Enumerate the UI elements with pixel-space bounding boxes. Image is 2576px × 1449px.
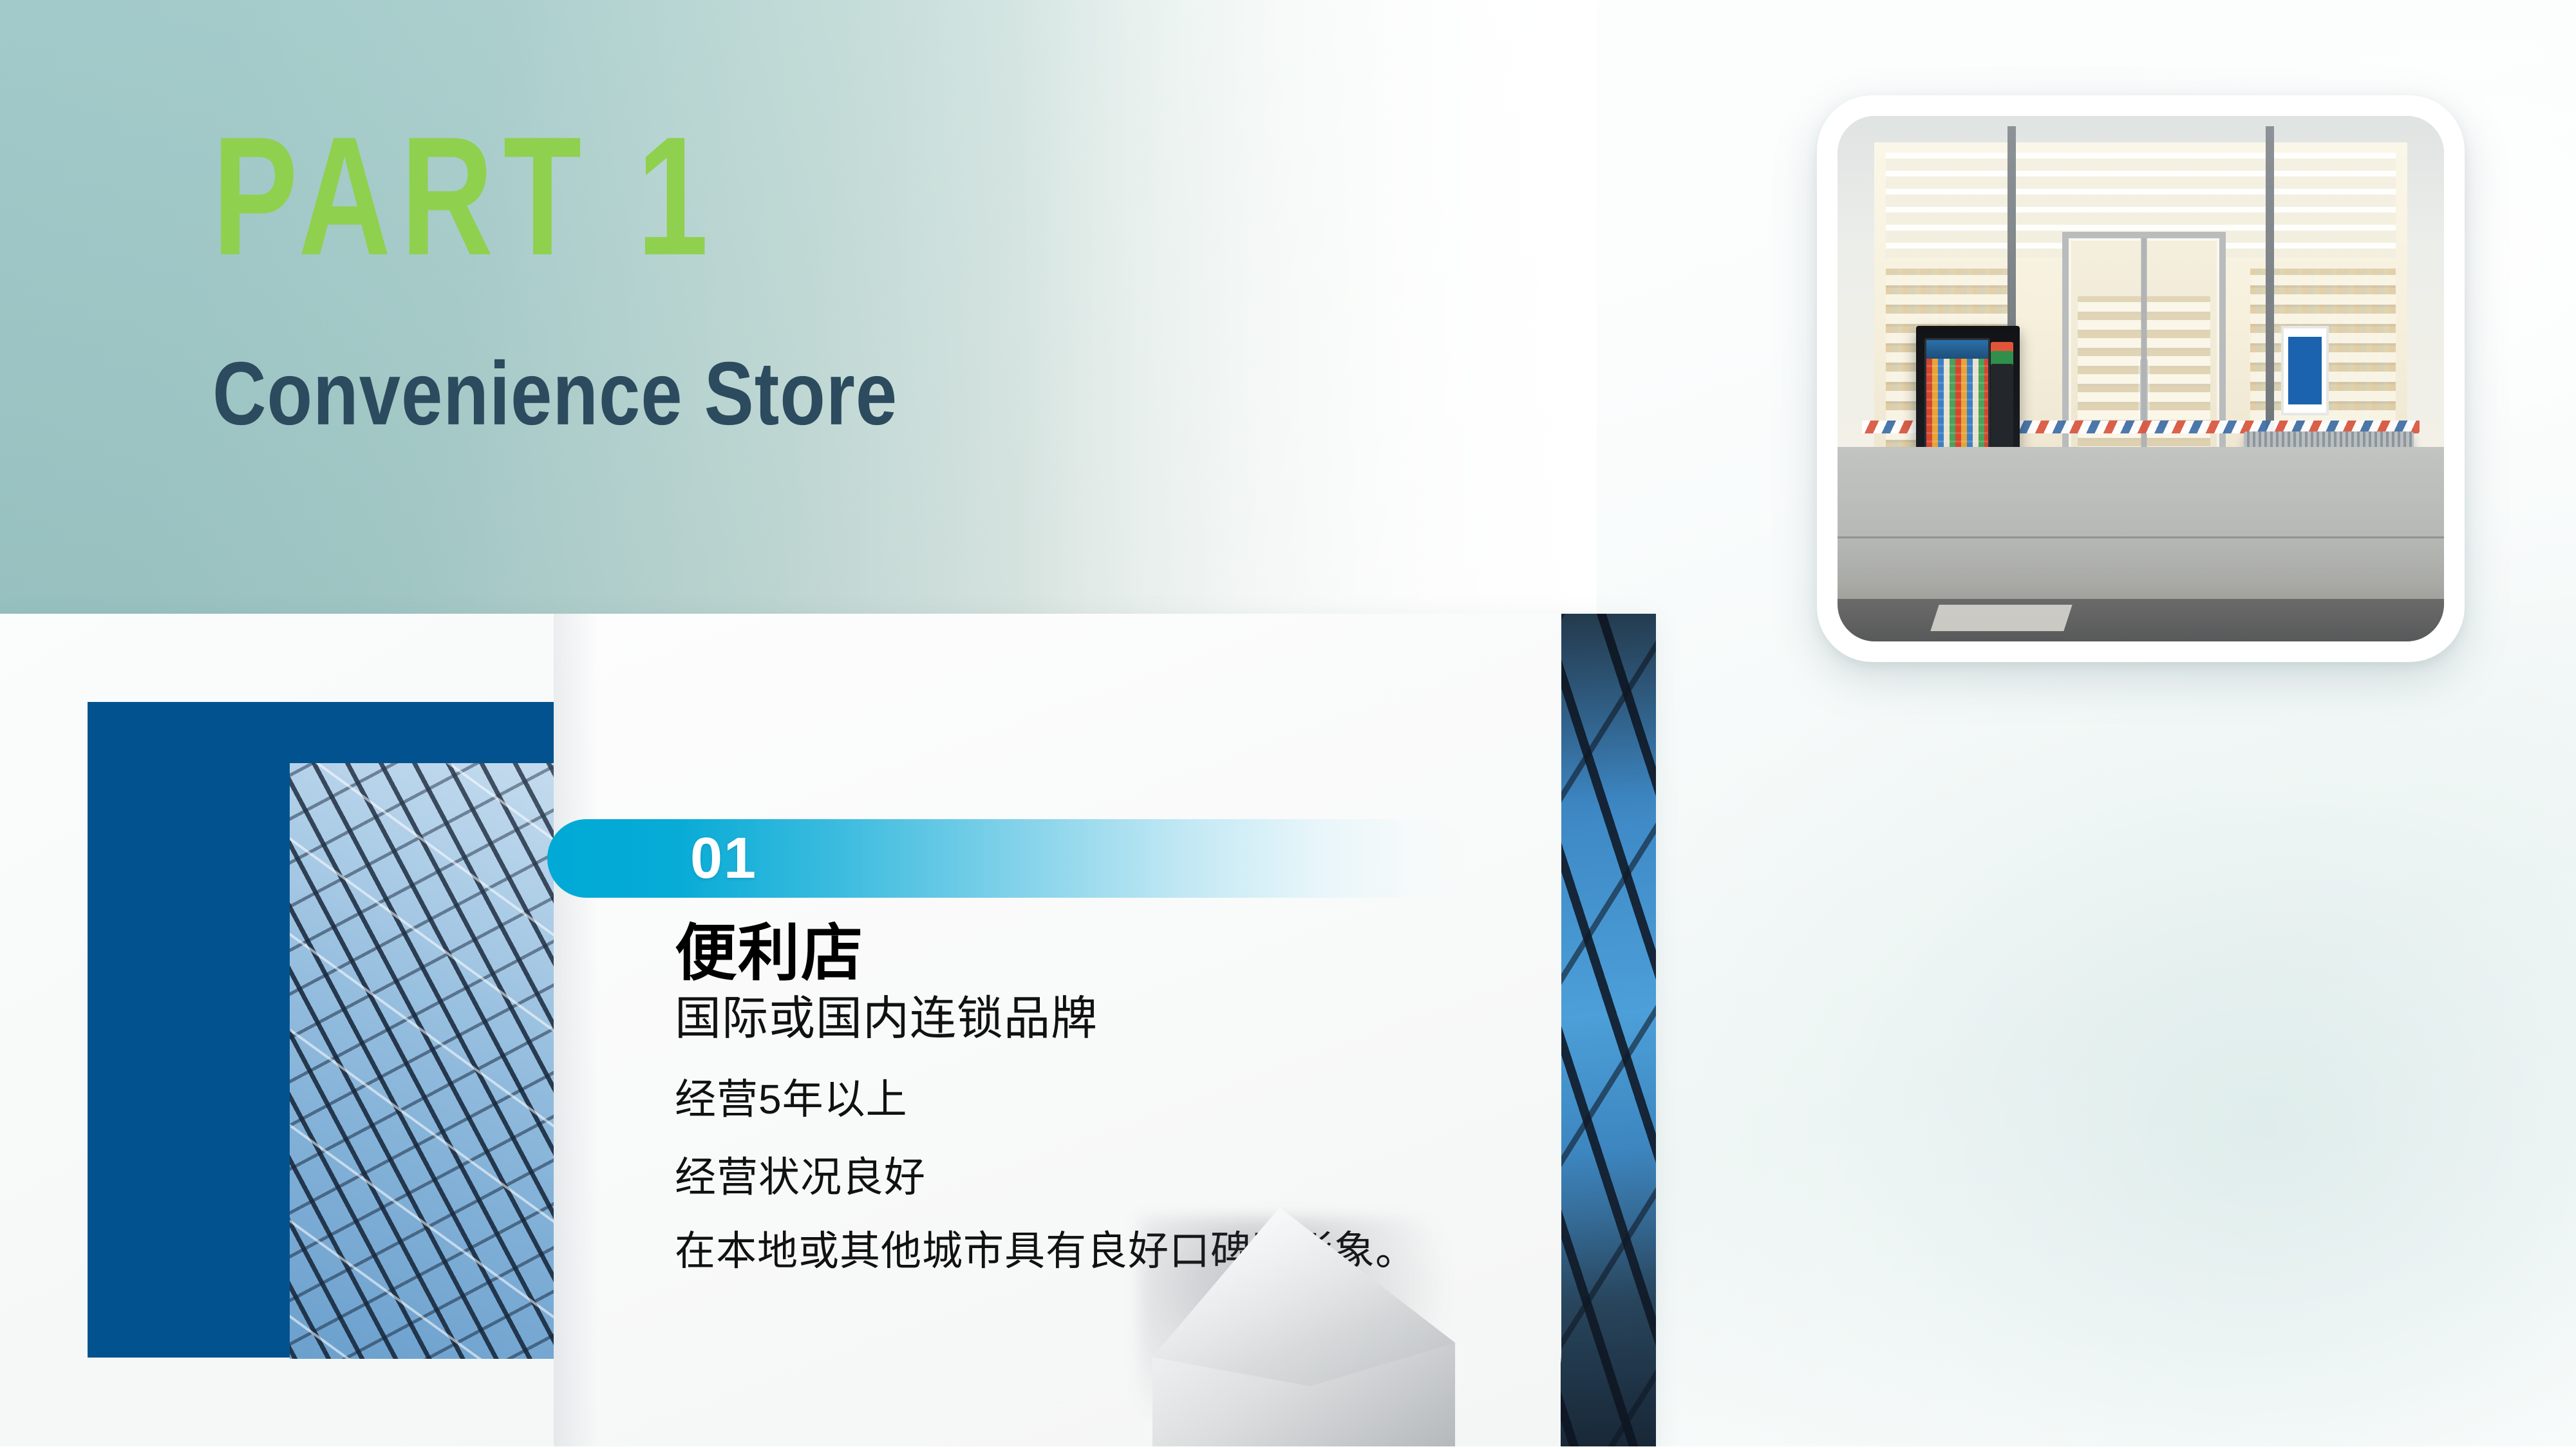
window-mullion-right bbox=[2266, 126, 2274, 457]
content-text-block: 便利店 国际或国内连锁品牌 经营5年以上 经营状况良好 在本地或其他城市具有良好… bbox=[675, 921, 1550, 1276]
content-bullet-3: 在本地或其他城市具有良好口碑及形象。 bbox=[675, 1227, 1550, 1276]
part-label: PART 1 bbox=[212, 119, 890, 274]
side-photo-strip bbox=[1561, 614, 1656, 1449]
crosswalk-marking bbox=[1930, 605, 2072, 631]
store-photo-card bbox=[1817, 95, 2465, 662]
content-title: 便利店 bbox=[675, 921, 1550, 987]
content-bullet-2: 经营状况良好 bbox=[675, 1153, 1550, 1202]
bottom-edge-divider bbox=[0, 1446, 2576, 1449]
badge-number-text: 01 bbox=[690, 829, 757, 887]
hero-subtitle: Convenience Store bbox=[212, 349, 898, 439]
hero-text-group: PART 1 Convenience Store bbox=[212, 119, 912, 425]
content-subtitle: 国际或国内连锁品牌 bbox=[675, 992, 1550, 1046]
accessibility-sign-icon bbox=[2281, 326, 2329, 415]
door-handle bbox=[2140, 357, 2148, 428]
content-bullet-1: 经营5年以上 bbox=[675, 1075, 1550, 1124]
slide-root: PART 1 Convenience Store bbox=[0, 0, 2576, 1449]
number-badge-01: 01 bbox=[547, 819, 1468, 898]
convenience-store-photo bbox=[1838, 116, 2444, 641]
sidewalk bbox=[1838, 447, 2444, 641]
